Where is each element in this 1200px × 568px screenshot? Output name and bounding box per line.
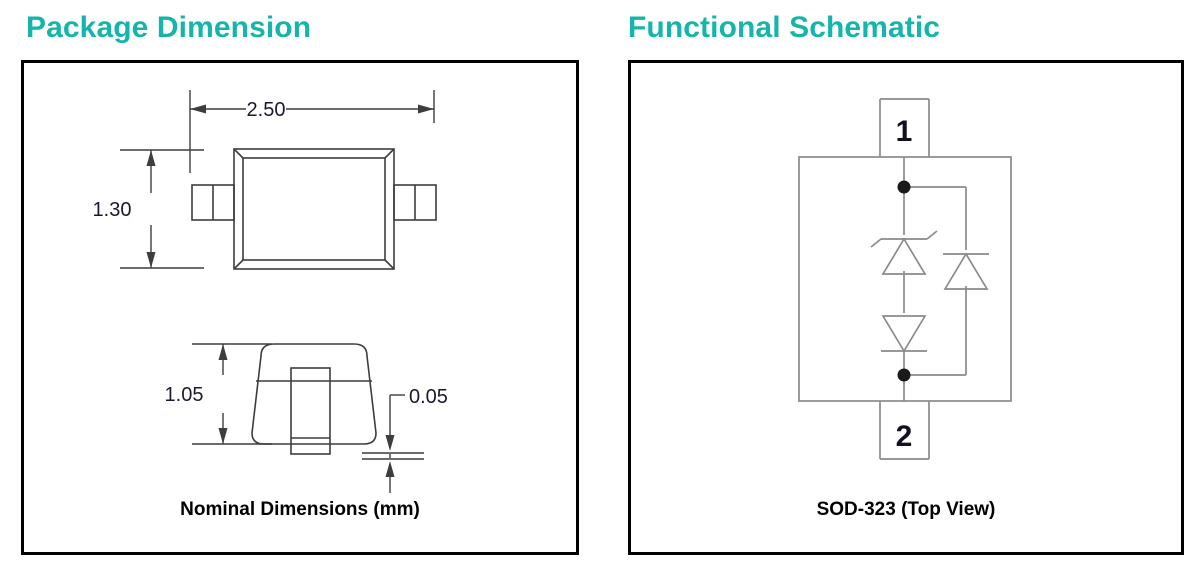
arrowhead-left	[190, 105, 206, 114]
top-junction-node	[898, 181, 911, 194]
dimension-label-width: 2.50	[247, 99, 286, 121]
pin-1-label: 1	[896, 115, 913, 148]
chamfer-bottom-left	[234, 260, 243, 269]
dimension-label-height: 1.30	[93, 199, 132, 221]
dimension-label-standoff: 0.05	[409, 386, 448, 408]
package-dimension-drawing: 2.50 1.30 1.05 0.05	[24, 63, 576, 552]
body-outline-outer	[234, 149, 394, 269]
arrowhead-side-top	[219, 344, 228, 360]
bottom-junction-node	[898, 369, 911, 382]
package-dimension-heading: Package Dimension	[26, 8, 311, 48]
side-view-group	[192, 344, 424, 493]
arrowhead-side-bottom	[219, 428, 228, 444]
zener-flag-right	[927, 231, 937, 239]
pin-2-label: 2	[896, 420, 913, 453]
right-diode-triangle	[945, 254, 987, 289]
body-side-outline	[252, 344, 376, 444]
chamfer-bottom-right	[385, 260, 394, 269]
zener-flag-left	[871, 239, 881, 247]
functional-schematic-heading: Functional Schematic	[628, 8, 940, 48]
chamfer-top-right	[385, 149, 394, 158]
device-body-box	[799, 157, 1011, 401]
package-dimension-caption: Nominal Dimensions (mm)	[24, 499, 576, 521]
body-outline-inner	[243, 158, 385, 260]
arrowhead-right	[418, 105, 434, 114]
functional-schematic-figure: 1 2 SOD-323 (Top View)	[628, 60, 1184, 555]
functional-schematic-caption: SOD-323 (Top View)	[631, 499, 1181, 521]
functional-schematic-drawing: 1 2	[631, 63, 1181, 552]
dimension-label-thickness: 1.05	[165, 384, 204, 406]
arrowhead-bottom	[147, 252, 156, 268]
zener-diode-triangle	[883, 239, 925, 274]
arrowhead-top	[147, 150, 156, 166]
center-diode-triangle	[883, 316, 925, 351]
package-dimension-figure: 2.50 1.30 1.05 0.05 Nominal Dimensions (…	[21, 60, 579, 555]
chamfer-top-left	[234, 149, 243, 158]
arrowhead-standoff-top	[386, 435, 395, 451]
